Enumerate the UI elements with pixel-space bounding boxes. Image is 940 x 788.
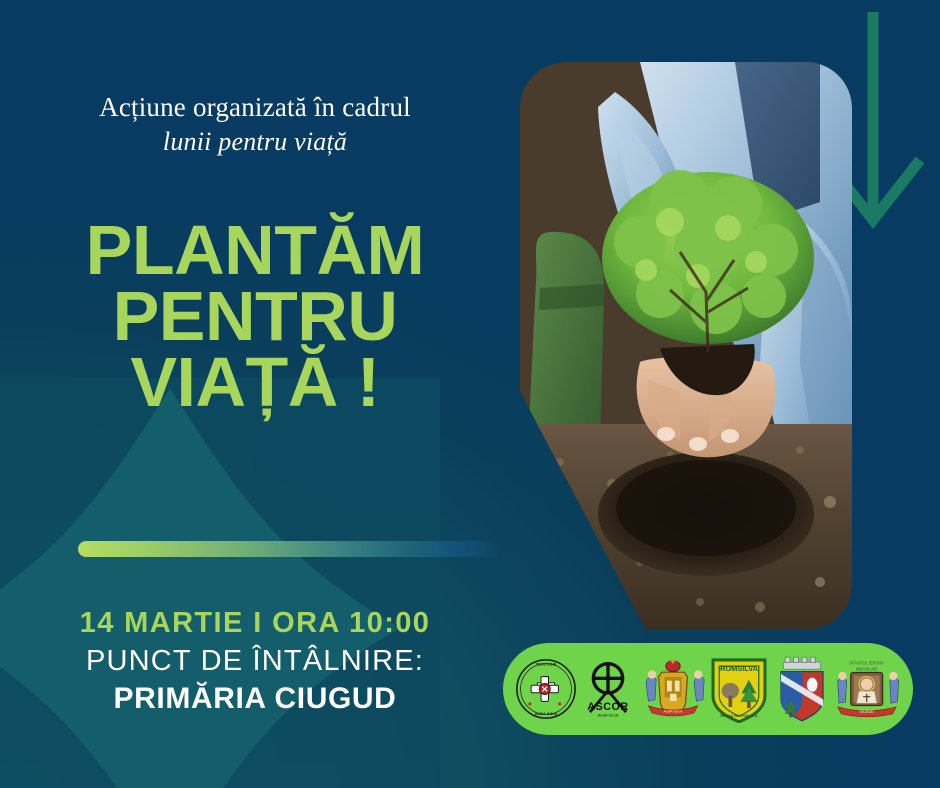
poster-canvas: Acțiune organizată în cadrul lunii pentr… [0,0,940,788]
leaf-pattern-decoration [0,378,440,788]
svg-text:ASCOR: ASCOR [588,701,629,713]
logo-facultatea-teologie-ortodoxa-alba-iulia: TEOLOGIE ALBA IULIA [515,649,577,729]
headline-line-2: PENTRU [0,284,510,350]
headline-line-1: PLANTĂM [0,218,510,284]
event-details: 14 MARTIE I ORA 10:00 PUNCT DE ÎNTÂLNIRE… [0,606,510,717]
planting-photo [520,62,852,630]
svg-text:ALBA IULIA: ALBA IULIA [535,711,558,716]
svg-text:SFÂNTUL IERARH: SFÂNTUL IERARH [849,661,884,666]
meeting-point-value: PRIMĂRIA CIUGUD [0,681,510,717]
logo-romsilva: ROMSILVA REGIA NAȚIONALĂ [708,649,770,729]
headline-line-3: VIAȚĂ ! [0,350,510,416]
svg-text:ALBA IULIA: ALBA IULIA [663,709,683,713]
kicker-line-1: Acțiune organizată în cadrul [99,92,411,122]
svg-text:CIUGUD: CIUGUD [860,710,874,714]
logo-comuna-ciugud [773,649,831,729]
svg-text:ALBA IULIA: ALBA IULIA [598,713,619,718]
logo-ascor-alba-iulia: ASCOR ALBA IULIA [579,649,637,729]
svg-text:REGIA NAȚIONALĂ: REGIA NAȚIONALĂ [721,713,758,718]
kicker-line-2: lunii pentru viață [0,125,510,158]
partner-logo-bar: TEOLOGIE ALBA IULIA ASCOR ALBA IULIA [503,643,913,735]
svg-text:TEOLOGIE: TEOLOGIE [536,661,557,666]
svg-text:ROMSILVA: ROMSILVA [720,664,759,673]
event-date-time: 14 MARTIE I ORA 10:00 [0,606,510,641]
kicker-text: Acțiune organizată în cadrul lunii pentr… [0,90,510,158]
page-title: PLANTĂM PENTRU VIAȚĂ ! [0,218,510,415]
svg-text:NICOLAE: NICOLAE [856,667,877,673]
logo-sfantul-nicolae-parohie: SFÂNTUL IERARH NICOLAE CIUGUD [833,649,901,729]
logo-arhiepiscopia-alba-iuliei: ALBA IULIA [640,649,706,729]
meeting-point-label: PUNCT DE ÎNTÂLNIRE: [0,643,510,680]
divider-bar [78,541,502,557]
